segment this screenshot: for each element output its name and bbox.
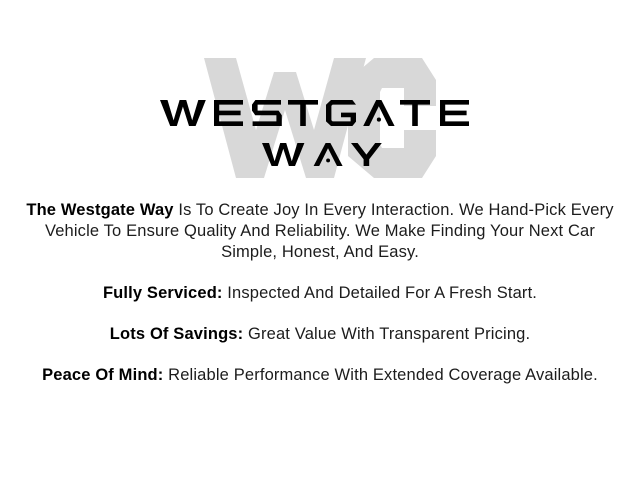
brand-lockup: WESTGATE WAY: [0, 42, 640, 190]
body-copy: The Westgate Way Is To Create Joy In Eve…: [18, 200, 622, 386]
paragraph-lead: The Westgate Way: [26, 201, 173, 219]
paragraph-text: Great Value With Transparent Pricing.: [243, 325, 530, 343]
paragraph-westgate-way: The Westgate Way Is To Create Joy In Eve…: [18, 200, 622, 263]
paragraph-text: Reliable Performance With Extended Cover…: [163, 366, 597, 384]
paragraph-lead: Peace Of Mind:: [42, 366, 163, 384]
paragraph-lead: Fully Serviced:: [103, 284, 223, 302]
paragraph-peace-of-mind: Peace Of Mind: Reliable Performance With…: [18, 365, 622, 386]
wordmark: [0, 42, 640, 190]
paragraph-lead: Lots Of Savings:: [110, 325, 244, 343]
promo-card: WESTGATE WAY The Westgate Way Is To Crea…: [0, 0, 640, 480]
paragraph-fully-serviced: Fully Serviced: Inspected And Detailed F…: [18, 283, 622, 304]
paragraph-text: Inspected And Detailed For A Fresh Start…: [223, 284, 537, 302]
paragraph-lots-of-savings: Lots Of Savings: Great Value With Transp…: [18, 324, 622, 345]
